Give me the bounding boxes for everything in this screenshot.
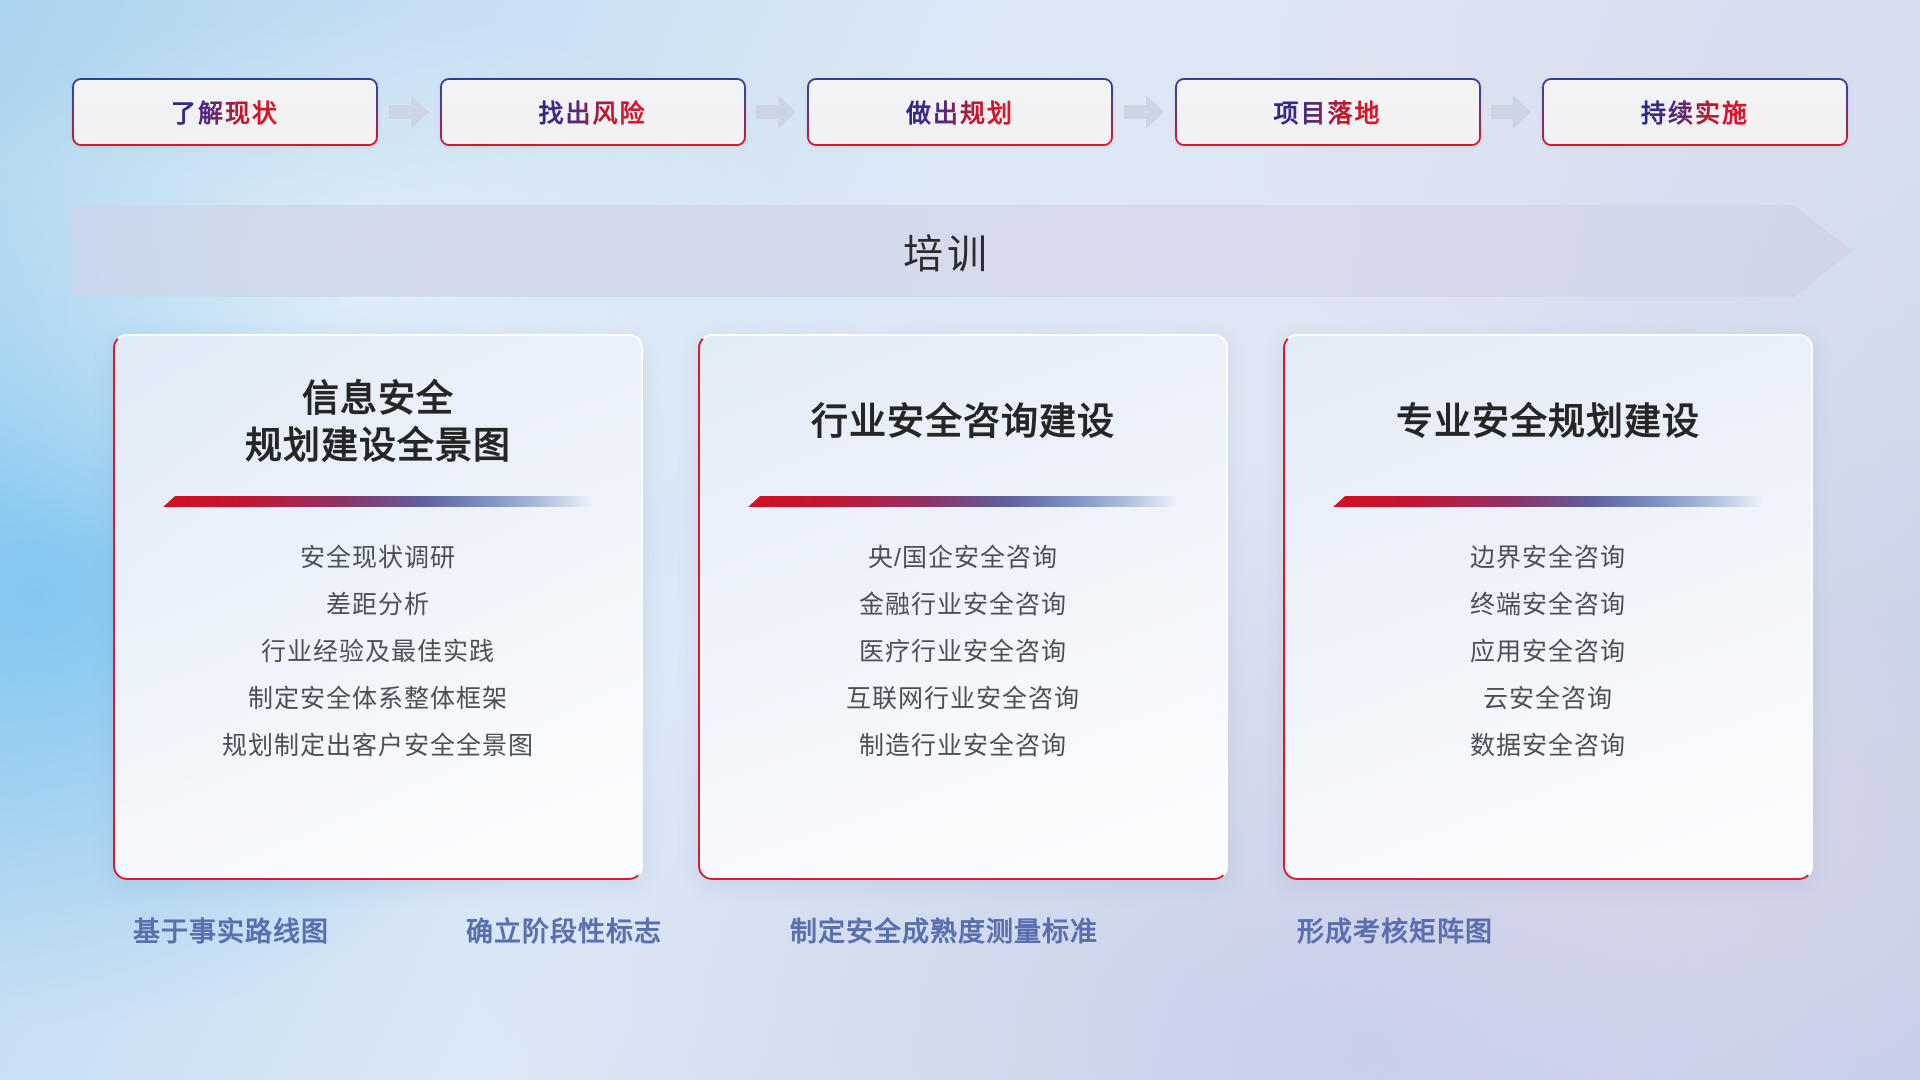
slide-canvas: 了解现状 找出风险 做出规划 项目落地 bbox=[0, 0, 1920, 1080]
card-title: 行业安全咨询建设 bbox=[811, 374, 1115, 470]
flow-step-label: 了解现状 bbox=[171, 94, 279, 130]
right-arrow-icon bbox=[389, 95, 429, 129]
training-banner: 培训 bbox=[72, 205, 1852, 297]
list-item: 安全现状调研 bbox=[222, 535, 534, 582]
card-title-line-2: 规划建设全景图 bbox=[245, 422, 511, 469]
list-item: 金融行业安全咨询 bbox=[846, 582, 1080, 629]
footnote-label: 确立阶段性标志 bbox=[466, 910, 662, 949]
card-item-list: 央/国企安全咨询 金融行业安全咨询 医疗行业安全咨询 互联网行业安全咨询 制造行… bbox=[846, 535, 1080, 770]
flow-step-label: 找出风险 bbox=[538, 94, 646, 130]
process-flow: 了解现状 找出风险 做出规划 项目落地 bbox=[72, 78, 1848, 146]
card-divider bbox=[748, 496, 1178, 507]
list-item: 差距分析 bbox=[222, 582, 534, 629]
list-item: 终端安全咨询 bbox=[1470, 582, 1626, 629]
list-item: 医疗行业安全咨询 bbox=[846, 629, 1080, 676]
flow-step-4[interactable]: 项目落地 bbox=[1175, 78, 1481, 146]
card-industry-consulting[interactable]: 行业安全咨询建设 央/国企安全咨询 金融行业安全咨询 医疗行业安全咨询 互联网行… bbox=[698, 334, 1228, 880]
flow-step-2[interactable]: 找出风险 bbox=[440, 78, 746, 146]
flow-step-5[interactable]: 持续实施 bbox=[1542, 78, 1848, 146]
footnote-label: 制定安全成熟度测量标准 bbox=[790, 910, 1098, 949]
card-information-security[interactable]: 信息安全 规划建设全景图 安全现状调研 差距分析 行业经验及最佳实践 制定安全体… bbox=[113, 334, 643, 880]
list-item: 云安全咨询 bbox=[1470, 676, 1626, 723]
card-group: 信息安全 规划建设全景图 安全现状调研 差距分析 行业经验及最佳实践 制定安全体… bbox=[113, 334, 1813, 880]
right-arrow-icon bbox=[756, 95, 796, 129]
flow-step-label: 持续实施 bbox=[1641, 94, 1749, 130]
list-item: 制定安全体系整体框架 bbox=[222, 676, 534, 723]
card-title-line-1: 信息安全 bbox=[245, 375, 511, 422]
card-item-list: 安全现状调研 差距分析 行业经验及最佳实践 制定安全体系整体框架 规划制定出客户… bbox=[222, 535, 534, 770]
right-arrow-icon bbox=[1124, 95, 1164, 129]
card-item-list: 边界安全咨询 终端安全咨询 应用安全咨询 云安全咨询 数据安全咨询 bbox=[1470, 535, 1626, 770]
list-item: 互联网行业安全咨询 bbox=[846, 676, 1080, 723]
card-professional-planning[interactable]: 专业安全规划建设 边界安全咨询 终端安全咨询 应用安全咨询 云安全咨询 数据安全… bbox=[1283, 334, 1813, 880]
flow-step-3[interactable]: 做出规划 bbox=[807, 78, 1113, 146]
list-item: 央/国企安全咨询 bbox=[846, 535, 1080, 582]
card-title-line-1: 行业安全咨询建设 bbox=[811, 398, 1115, 445]
flow-step-label: 做出规划 bbox=[906, 94, 1014, 130]
footnote-label: 形成考核矩阵图 bbox=[1297, 910, 1493, 949]
card-title: 信息安全 规划建设全景图 bbox=[245, 374, 511, 470]
card-title: 专业安全规划建设 bbox=[1396, 374, 1700, 470]
footnote-row: 基于事实路线图 确立阶段性标志 制定安全成熟度测量标准 形成考核矩阵图 bbox=[0, 910, 1920, 964]
list-item: 规划制定出客户安全全景图 bbox=[222, 723, 534, 770]
footnote-label: 基于事实路线图 bbox=[133, 910, 329, 949]
card-title-line-1: 专业安全规划建设 bbox=[1396, 398, 1700, 445]
card-divider bbox=[163, 496, 593, 507]
right-arrow-icon bbox=[1491, 95, 1531, 129]
flow-step-1[interactable]: 了解现状 bbox=[72, 78, 378, 146]
card-divider bbox=[1333, 496, 1763, 507]
banner-title: 培训 bbox=[903, 222, 991, 280]
list-item: 数据安全咨询 bbox=[1470, 723, 1626, 770]
flow-step-label: 项目落地 bbox=[1273, 94, 1381, 130]
list-item: 制造行业安全咨询 bbox=[846, 723, 1080, 770]
list-item: 行业经验及最佳实践 bbox=[222, 629, 534, 676]
list-item: 边界安全咨询 bbox=[1470, 535, 1626, 582]
list-item: 应用安全咨询 bbox=[1470, 629, 1626, 676]
